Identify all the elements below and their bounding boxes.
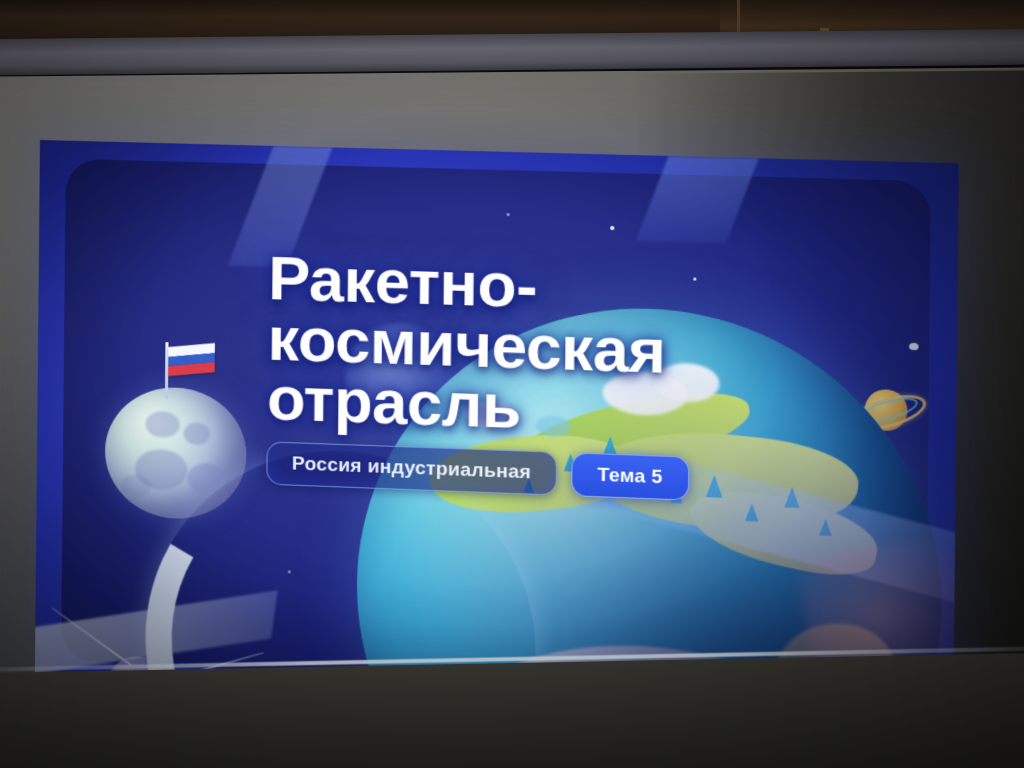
crater	[121, 474, 151, 497]
russian-flag-icon	[168, 343, 215, 376]
slide-title: Ракетно- космическая отрасль	[267, 249, 935, 453]
star	[507, 213, 510, 216]
badge-topic[interactable]: Тема 5	[571, 452, 689, 500]
classroom-scene: Ракетно- космическая отрасль Россия инду…	[0, 0, 1024, 768]
projected-slide: Ракетно- космическая отрасль Россия инду…	[35, 140, 959, 722]
slide-canvas: Ракетно- космическая отрасль Россия инду…	[35, 140, 959, 722]
lower-wall	[0, 653, 1024, 768]
crater	[184, 422, 210, 445]
crater	[145, 411, 180, 438]
star	[610, 226, 614, 230]
